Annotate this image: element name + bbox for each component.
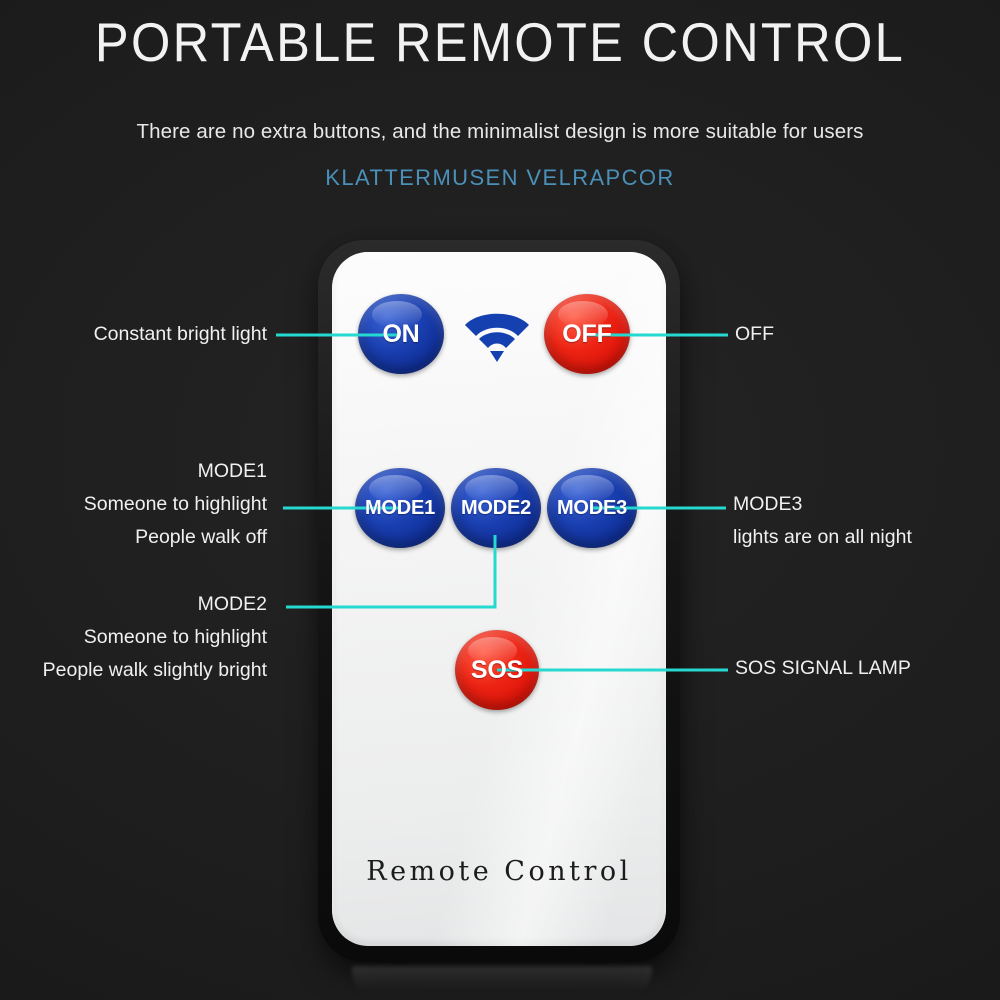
callout-label-on: Constant bright light xyxy=(94,318,267,351)
callout-mode1-line-3: People walk off xyxy=(84,521,267,554)
callout-mode2-line-1: MODE2 xyxy=(43,588,267,621)
button-mode3[interactable]: MODE3 xyxy=(547,468,637,548)
callout-mode1-line-2: Someone to highlight xyxy=(84,488,267,521)
button-off[interactable]: OFF xyxy=(544,294,630,374)
callout-mode2-line-2: Someone to highlight xyxy=(43,621,267,654)
callout-label-sos: SOS SIGNAL LAMP xyxy=(735,652,911,685)
remote-reflection xyxy=(352,966,652,1000)
callout-mode3-line-1: MODE3 xyxy=(733,488,912,521)
callout-mode1-line-1: MODE1 xyxy=(84,455,267,488)
button-mode2[interactable]: MODE2 xyxy=(451,468,541,548)
callout-label-mode2: MODE2 Someone to highlight People walk s… xyxy=(43,588,267,687)
page-subtitle: There are no extra buttons, and the mini… xyxy=(0,120,1000,144)
device-brand-stamp: Remote Control xyxy=(332,856,666,887)
wifi-signal-icon xyxy=(461,306,533,366)
button-mode1[interactable]: MODE1 xyxy=(355,468,445,548)
callout-mode2-line-3: People walk slightly bright xyxy=(43,654,267,687)
button-on[interactable]: ON xyxy=(358,294,444,374)
callout-sos-line-1: SOS SIGNAL LAMP xyxy=(735,652,911,685)
button-on-label: ON xyxy=(382,320,419,349)
button-mode3-label: MODE3 xyxy=(557,497,627,520)
callout-label-off: OFF xyxy=(735,318,774,351)
callout-label-mode1: MODE1 Someone to highlight People walk o… xyxy=(84,455,267,554)
button-sos[interactable]: SOS xyxy=(455,630,539,710)
button-off-label: OFF xyxy=(562,320,611,349)
button-mode1-label: MODE1 xyxy=(365,497,435,520)
button-sos-label: SOS xyxy=(471,656,523,685)
brand-name: KLATTERMUSEN VELRAPCOR xyxy=(0,165,1000,191)
button-mode2-label: MODE2 xyxy=(461,497,531,520)
infographic-canvas: PORTABLE REMOTE CONTROL There are no ext… xyxy=(0,0,1000,1000)
callout-label-mode3: MODE3 lights are on all night xyxy=(733,488,912,554)
callout-on-line-1: Constant bright light xyxy=(94,318,267,351)
callout-mode3-line-2: lights are on all night xyxy=(733,521,912,554)
callout-off-line-1: OFF xyxy=(735,318,774,351)
page-title: PORTABLE REMOTE CONTROL xyxy=(40,10,960,74)
